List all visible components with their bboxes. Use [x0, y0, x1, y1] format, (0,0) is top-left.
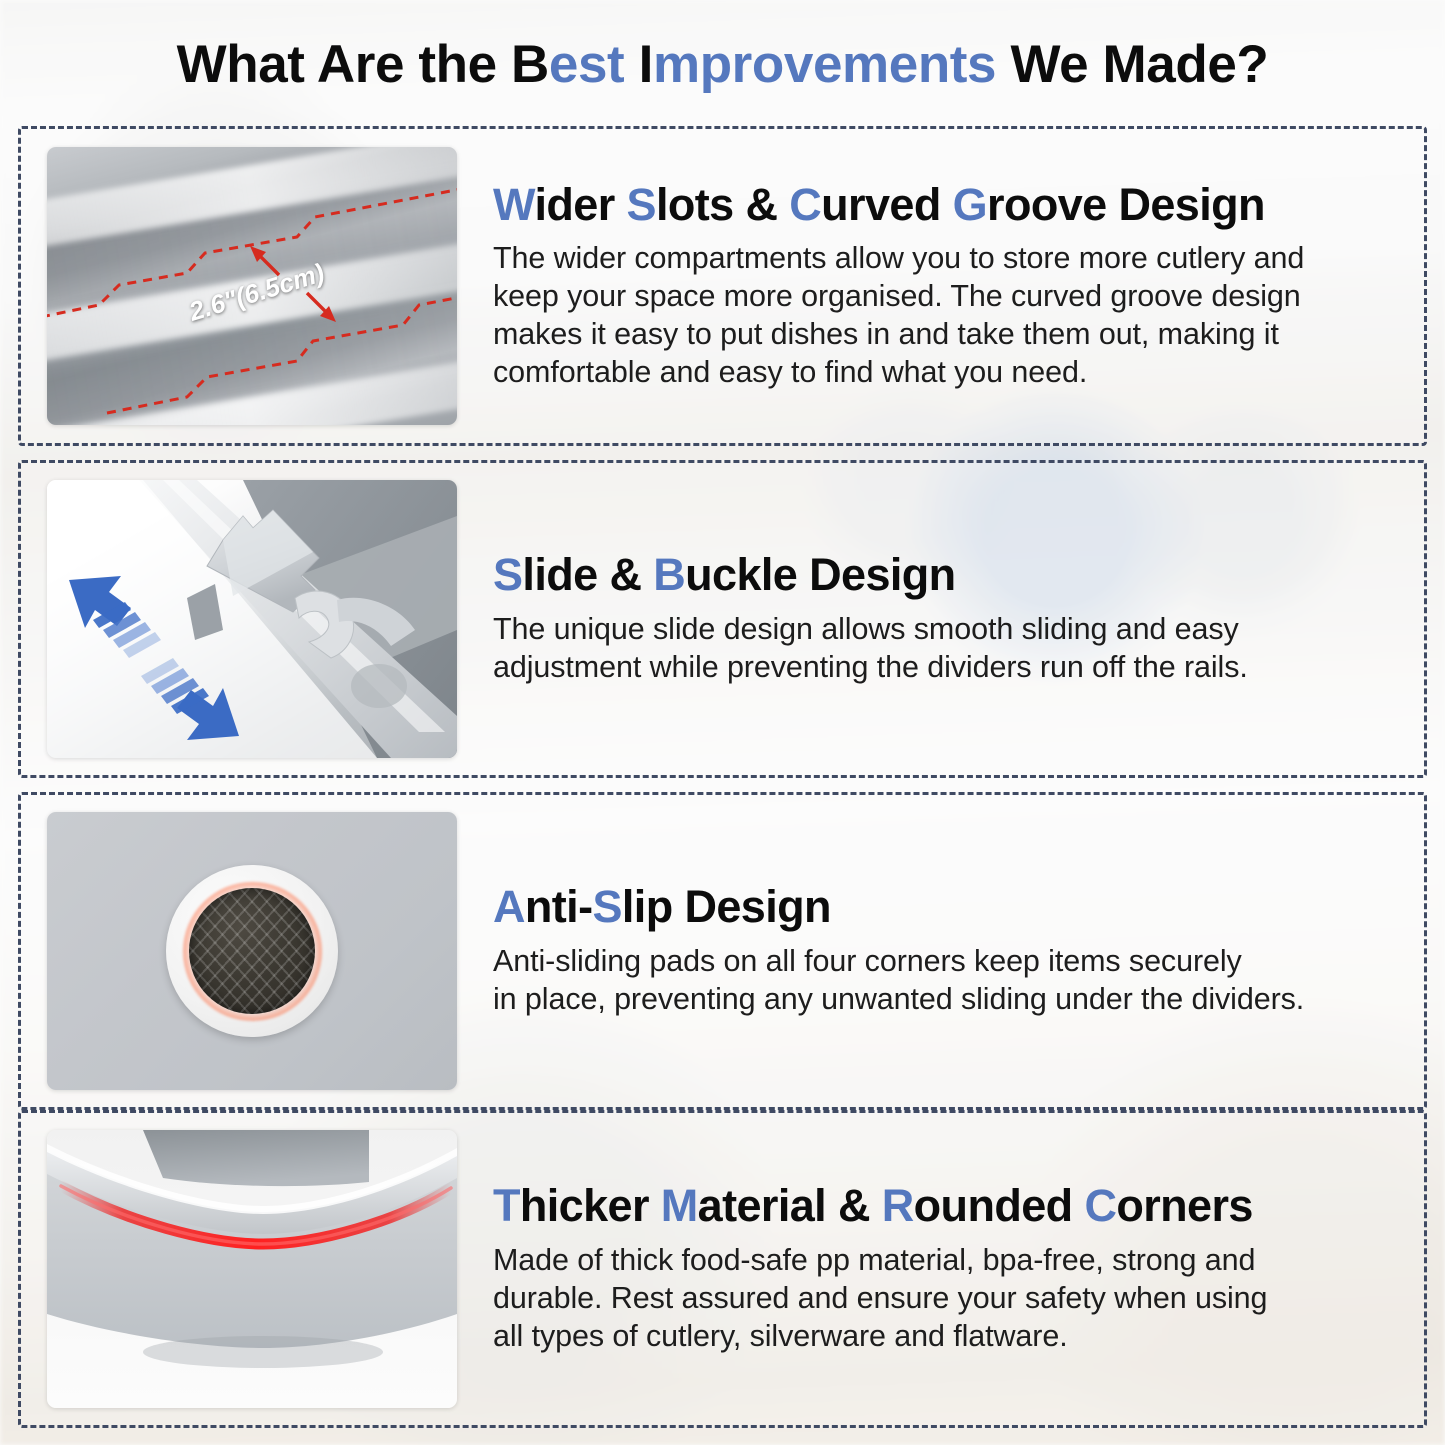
cutlery-tray-groove-photo: 2.6"(6.5cm) — [47, 147, 457, 425]
feature-heading-wider-slots: Wider Slots & Curved Groove Design — [493, 181, 1408, 230]
feature-copy: Thicker Material & Rounded Corners Made … — [457, 1182, 1424, 1355]
feature-panel-thicker-material: Thicker Material & Rounded Corners Made … — [18, 1110, 1427, 1428]
pad-textured-surface — [189, 888, 315, 1014]
slide-buckle-illustration — [47, 480, 457, 758]
feature-body-anti-slip: Anti-sliding pads on all four corners ke… — [493, 943, 1408, 1019]
rounded-corner-illustration — [47, 1130, 457, 1408]
feature-panel-wider-slots: 2.6"(6.5cm) Wider Slots & Curved Groove … — [18, 126, 1427, 446]
rounded-corner-photo — [47, 1130, 457, 1408]
feature-body-thicker-material: Made of thick food-safe pp material, bpa… — [493, 1242, 1408, 1355]
feature-heading-anti-slip: Anti-Slip Design — [493, 883, 1408, 932]
page-title: What Are the Best Improvements We Made? — [0, 34, 1445, 95]
feature-panel-slide-buckle: Slide & Buckle Design The unique slide d… — [18, 460, 1427, 778]
feature-copy: Slide & Buckle Design The unique slide d… — [457, 551, 1424, 686]
feature-body-slide-buckle: The unique slide design allows smooth sl… — [493, 611, 1408, 687]
feature-heading-slide-buckle: Slide & Buckle Design — [493, 551, 1408, 600]
feature-heading-thicker-material: Thicker Material & Rounded Corners — [493, 1182, 1408, 1231]
slide-buckle-photo — [47, 480, 457, 758]
feature-copy: Anti-Slip Design Anti-sliding pads on al… — [457, 883, 1424, 1018]
feature-copy: Wider Slots & Curved Groove Design The w… — [457, 181, 1424, 392]
feature-body-wider-slots: The wider compartments allow you to stor… — [493, 240, 1408, 391]
anti-slip-pad-photo — [47, 812, 457, 1090]
feature-panel-anti-slip: Anti-Slip Design Anti-sliding pads on al… — [18, 792, 1427, 1110]
